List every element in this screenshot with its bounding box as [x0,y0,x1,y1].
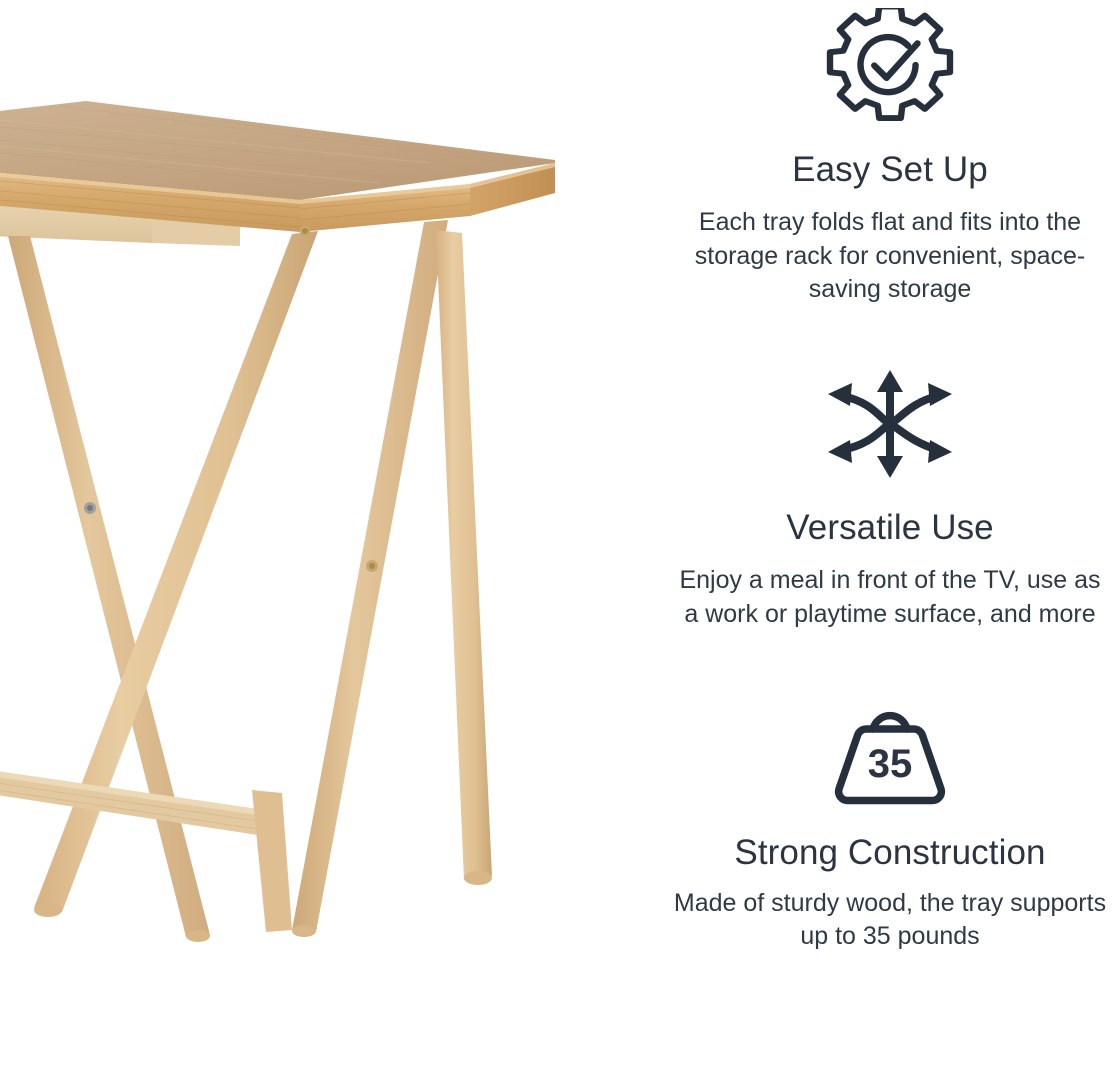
feature-title: Easy Set Up [792,150,988,190]
weight-35-icon: 35 [825,701,955,813]
feature-description: Enjoy a meal in front of the TV, use as … [670,564,1110,631]
feature-block-strong-construction: 35 Strong Construction Made of sturdy wo… [660,701,1120,954]
feature-block-versatile-use: Versatile Use Enjoy a meal in front of t… [660,368,1120,631]
feature-title: Versatile Use [786,508,994,548]
infographic-page: Easy Set Up Each tray folds flat and fit… [0,0,1120,1067]
gear-check-icon [825,8,955,126]
feature-description: Made of sturdy wood, the tray supports u… [670,887,1110,954]
leg-back-right [292,220,448,932]
product-photo [0,0,600,1067]
feature-column: Easy Set Up Each tray folds flat and fit… [660,0,1120,1067]
feature-block-easy-set-up: Easy Set Up Each tray folds flat and fit… [660,8,1120,306]
feature-title: Strong Construction [734,833,1045,873]
leg-front-right [436,230,492,880]
multi-direction-arrows-icon [819,368,961,480]
weight-value: 35 [868,742,913,786]
feature-description: Each tray folds flat and fits into the s… [670,206,1110,306]
